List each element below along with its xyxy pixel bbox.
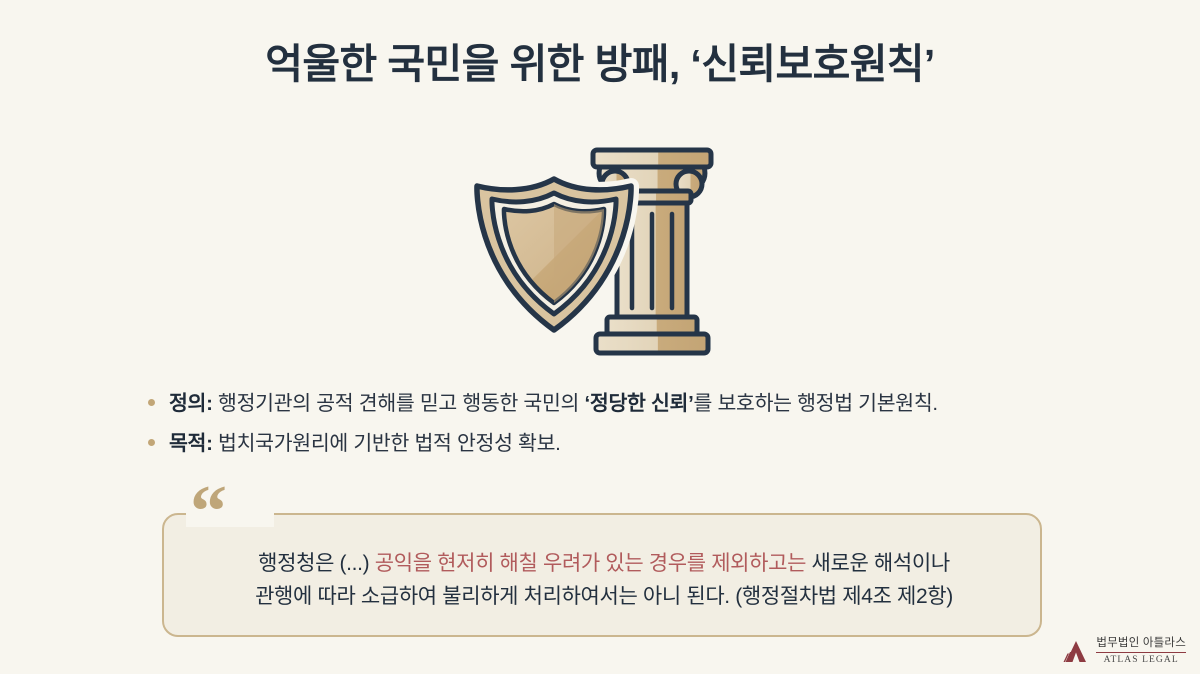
slide-canvas: 억울한 국민을 위한 방패, ‘신뢰보호원칙’ xyxy=(0,0,1200,674)
quote-line1-before: 행정청은 (...) xyxy=(258,552,375,575)
quote-block: “ 행정청은 (...) 공익을 현저히 해칠 우려가 있는 경우를 제외하고는… xyxy=(162,513,1042,637)
bullet-label: 정의: xyxy=(169,392,213,415)
page-title: 억울한 국민을 위한 방패, ‘신뢰보호원칙’ xyxy=(0,41,1200,88)
shield-and-pillar-illustration xyxy=(465,140,735,365)
quotation-mark-icon: “ xyxy=(190,475,226,549)
bullet-text-after: 를 보호하는 행정법 기본원칙. xyxy=(694,392,938,415)
quote-highlight: 공익을 현저히 해칠 우려가 있는 경우를 제외하고는 xyxy=(375,552,806,575)
list-item: 목적: 법치국가원리에 기반한 법적 안정성 확보. xyxy=(148,430,1108,458)
logo-korean-name: 법무법인 아틀라스 xyxy=(1096,637,1186,652)
brand-logo: 법무법인 아틀라스 ATLAS LEGAL xyxy=(1063,637,1186,666)
bullet-dot-icon xyxy=(148,399,155,406)
quote-line1-after: 새로운 해석이나 xyxy=(806,552,950,575)
bullet-dot-icon xyxy=(148,439,155,446)
list-item: 정의: 행정기관의 공적 견해를 믿고 행동한 국민의 ‘정당한 신뢰’를 보호… xyxy=(148,390,1108,418)
bullet-emphasis: ‘정당한 신뢰’ xyxy=(585,392,694,415)
bullet-label: 목적: xyxy=(169,432,213,455)
quote-text: 행정청은 (...) 공익을 현저히 해칠 우려가 있는 경우를 제외하고는 새… xyxy=(164,547,1044,613)
atlas-mark-icon xyxy=(1063,639,1089,665)
bullet-text-before: 법치국가원리에 기반한 법적 안정성 확보. xyxy=(213,432,561,455)
bullet-text-before: 행정기관의 공적 견해를 믿고 행동한 국민의 xyxy=(213,392,585,415)
shield-shape xyxy=(477,179,631,330)
quote-line2: 관행에 따라 소급하여 불리하게 처리하여서는 아니 된다. (행정절차법 제4… xyxy=(255,585,953,608)
bullet-text: 정의: 행정기관의 공적 견해를 믿고 행동한 국민의 ‘정당한 신뢰’를 보호… xyxy=(169,390,1108,418)
logo-english-name: ATLAS LEGAL xyxy=(1104,653,1179,666)
bullet-text: 목적: 법치국가원리에 기반한 법적 안정성 확보. xyxy=(169,430,1108,458)
logo-wordmark: 법무법인 아틀라스 ATLAS LEGAL xyxy=(1096,637,1186,666)
bullet-list: 정의: 행정기관의 공적 견해를 믿고 행동한 국민의 ‘정당한 신뢰’를 보호… xyxy=(148,390,1108,469)
